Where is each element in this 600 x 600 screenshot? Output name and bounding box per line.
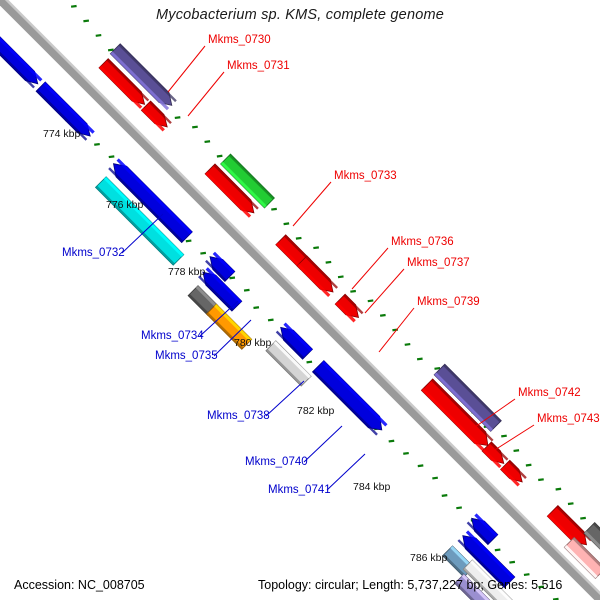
gene-label[interactable]: Mkms_0743 [537, 413, 600, 425]
axis-tick-label: 776 kbp [106, 199, 143, 211]
gene-label[interactable]: Mkms_0735 [155, 350, 218, 362]
genome-summary-label: Topology: circular; Length: 5,737,227 bp… [258, 578, 562, 592]
gene-arrow[interactable] [297, 256, 338, 297]
status-bar: Accession: NC_008705 Topology: circular;… [0, 570, 600, 600]
gene-label[interactable]: Mkms_0732 [62, 247, 125, 259]
gene-label[interactable]: Mkms_0739 [417, 296, 480, 308]
axis-tick-label: 778 kbp [168, 266, 205, 278]
gene-label[interactable]: Mkms_0736 [391, 236, 454, 248]
axis-tick-label: 782 kbp [297, 405, 334, 417]
gene-label[interactable]: Mkms_0740 [245, 456, 308, 468]
gene-label[interactable]: Mkms_0737 [407, 257, 470, 269]
gene-arrow[interactable] [501, 460, 527, 486]
gene-label[interactable]: Mkms_0733 [334, 170, 397, 182]
axis-tick-label: 774 kbp [43, 128, 80, 140]
gene-arrow[interactable] [335, 294, 363, 322]
genome-axis [0, 0, 600, 600]
gene-label[interactable]: Mkms_0742 [518, 387, 581, 399]
gene-label[interactable]: Mkms_0734 [141, 330, 204, 342]
gene-label[interactable]: Mkms_0730 [208, 34, 271, 46]
axis-tick-label: 786 kbp [410, 552, 447, 564]
genome-canvas [0, 0, 600, 600]
accession-label: Accession: NC_008705 [14, 578, 145, 592]
gene-label[interactable]: Mkms_0738 [207, 410, 270, 422]
axis-tick-label: 784 kbp [353, 481, 390, 493]
axis-tick-label: 780 kbp [234, 337, 271, 349]
gene-arrow[interactable] [482, 442, 508, 468]
gene-label[interactable]: Mkms_0741 [268, 484, 331, 496]
genome-map-viewer: Mycobacterium sp. KMS, complete genome A… [0, 0, 600, 600]
page-title: Mycobacterium sp. KMS, complete genome [0, 7, 600, 23]
gene-arrow[interactable] [141, 101, 171, 131]
gene-label[interactable]: Mkms_0731 [227, 60, 290, 72]
